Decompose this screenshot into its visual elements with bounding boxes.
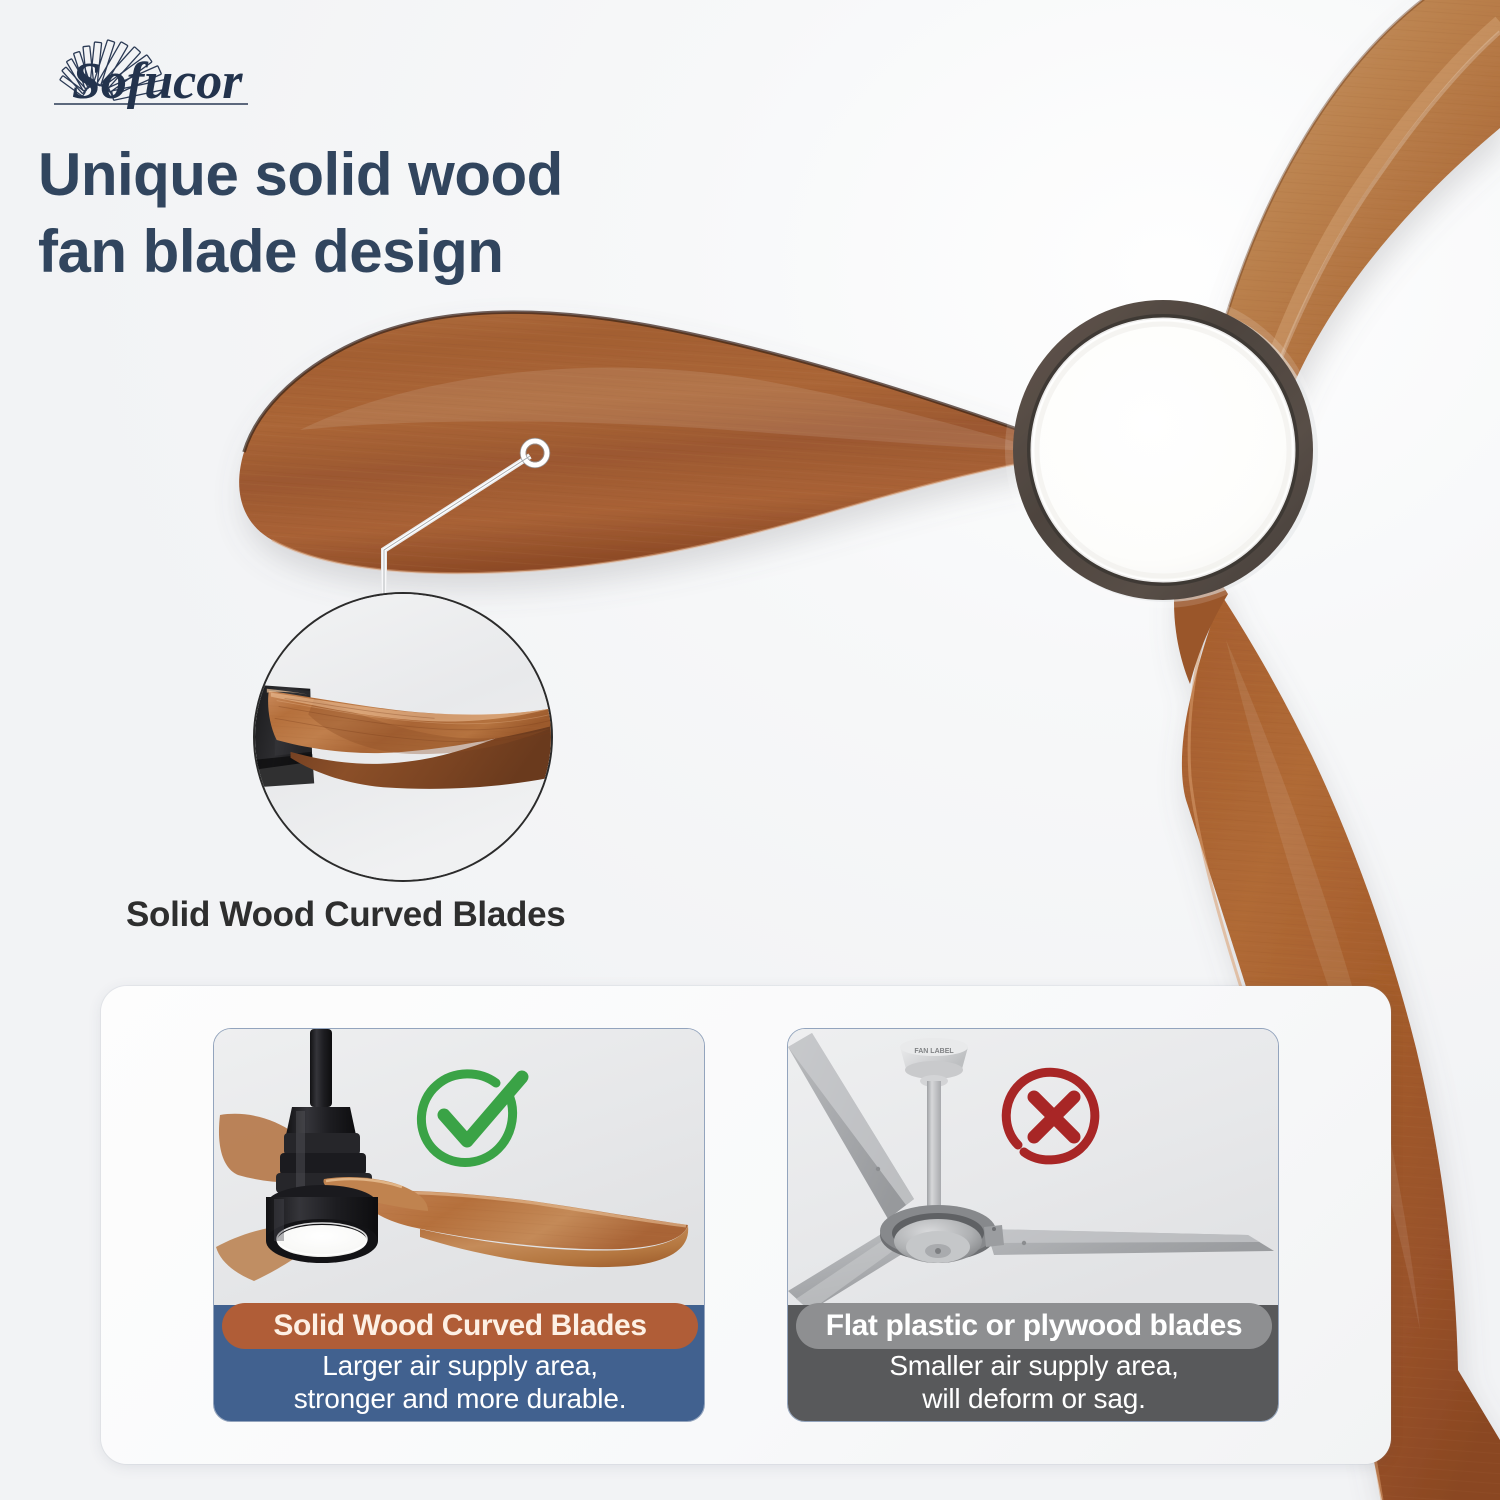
callout-magnifier xyxy=(253,592,553,882)
fan-hub-light xyxy=(1005,292,1321,608)
comparison-card-bad: FAN LABEL xyxy=(787,1028,1279,1422)
brand-wordmark: Sofucor xyxy=(72,53,243,110)
brand-logo: Sofucor xyxy=(22,18,252,118)
callout-caption: Solid Wood Curved Blades xyxy=(126,895,565,935)
green-check-circle-icon xyxy=(410,1057,530,1177)
comparison-description-bad: Smaller air supply area, will deform or … xyxy=(788,1347,1279,1415)
page-title: Unique solid wood fan blade design xyxy=(38,136,738,291)
fan-blade-top-right xyxy=(1192,0,1500,418)
hub-rim xyxy=(1013,300,1313,600)
led-light-disc-icon xyxy=(1032,319,1294,581)
comparison-card-good: Solid Wood Curved Blades Larger air supp… xyxy=(213,1028,705,1422)
callout-circle-frame xyxy=(253,592,553,882)
status-badge-bad: Flat plastic or plywood blades xyxy=(796,1303,1272,1349)
headline-line-2: fan blade design xyxy=(38,218,503,285)
status-badge-good: Solid Wood Curved Blades xyxy=(222,1303,698,1349)
sunburst-rays-icon: Sofucor xyxy=(22,18,252,118)
comparison-footer-good: Solid Wood Curved Blades Larger air supp… xyxy=(214,1305,705,1421)
comparison-description-good: Larger air supply area, stronger and mor… xyxy=(214,1347,705,1415)
product-feature-infographic: Sofucor Unique solid wood fan blade desi… xyxy=(0,0,1500,1500)
headline-line-1: Unique solid wood xyxy=(38,141,563,208)
red-x-circle-icon xyxy=(994,1057,1114,1177)
comparison-panel: Solid Wood Curved Blades Larger air supp… xyxy=(101,986,1391,1464)
svg-text:FAN LABEL: FAN LABEL xyxy=(914,1048,954,1055)
magnified-blade-curve-detail xyxy=(255,594,551,880)
comparison-footer-bad: Flat plastic or plywood blades Smaller a… xyxy=(788,1305,1279,1421)
